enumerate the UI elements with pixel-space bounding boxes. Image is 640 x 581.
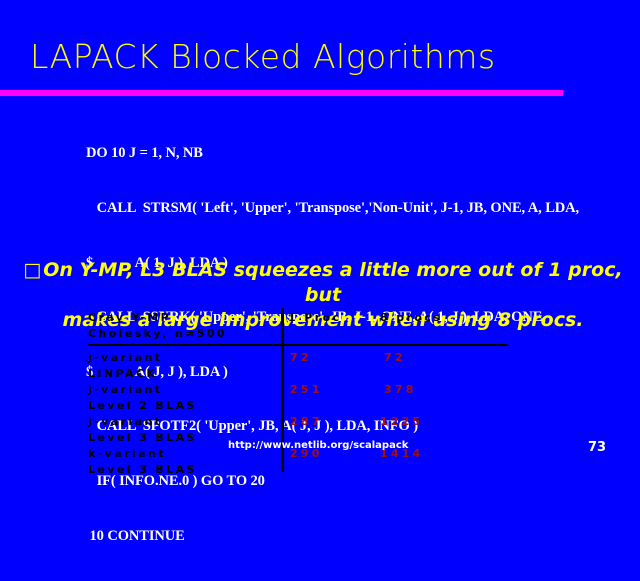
slide-canvas: LAPACK Blocked Algorithms DO 10 J = 1, N… — [0, 0, 640, 480]
footer-url-link[interactable]: http://www.netlib.org/scalapack — [228, 440, 408, 451]
code-line: DO 10 J = 1, N, NB — [86, 144, 636, 162]
table-cell-value: 287 — [290, 414, 323, 430]
table-row-sublabel: Level 3 BLAS — [88, 430, 197, 446]
code-line: CALL STRSM( 'Left', 'Upper', 'Transpose'… — [86, 199, 636, 217]
code-line: 10 CONTINUE — [86, 527, 636, 545]
table-row-label: k-variant — [88, 446, 166, 462]
page-number: 73 — [588, 440, 606, 455]
table-row-label: j-variant — [88, 350, 162, 366]
bullet-line-1: On Y-MP, L3 BLAS squeezes a little more … — [43, 259, 622, 306]
table-row-label: j-variant — [88, 414, 162, 430]
table-header-machine: Cray Y-MP — [88, 310, 171, 326]
table-cell-value: 72 — [384, 350, 406, 366]
table-cell-value: 378 — [384, 382, 417, 398]
table-cell-value: 251 — [290, 382, 323, 398]
table-row-sublabel: Level 2 BLAS — [88, 398, 197, 414]
table-row-sublabel: Level 3 BLAS — [88, 462, 197, 478]
square-bullet-icon: □ — [23, 259, 41, 281]
table-cell-value: 72 — [290, 350, 312, 366]
title-underline-rule — [0, 90, 563, 96]
table-row-label: j-variant — [88, 382, 162, 398]
page-title: LAPACK Blocked Algorithms — [30, 40, 610, 73]
table-column-header-8procs: 8 procs — [380, 310, 442, 326]
table-header-problem: Cholesky, n=500 — [88, 326, 227, 342]
table-row-sublabel: LINPACK — [88, 366, 157, 382]
table-cell-value: 1225 — [380, 414, 423, 430]
table-column-header-1proc: 1 Proc — [288, 310, 341, 326]
table-header-divider — [88, 344, 508, 346]
